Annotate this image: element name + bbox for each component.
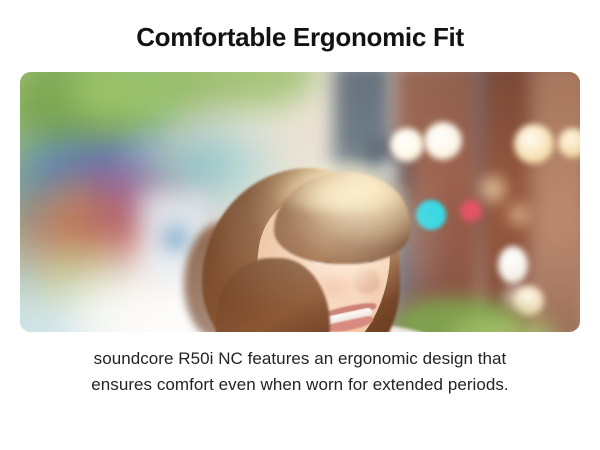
- nose: [354, 268, 380, 294]
- hair-crown-highlight: [266, 160, 412, 212]
- feature-photo: [20, 72, 580, 332]
- caption-line-2: ensures comfort even when worn for exten…: [40, 372, 560, 398]
- caption-line-1: soundcore R50i NC features an ergonomic …: [40, 346, 560, 372]
- feature-caption: soundcore R50i NC features an ergonomic …: [40, 346, 560, 398]
- person-subject: [20, 72, 580, 332]
- page-title: Comfortable Ergonomic Fit: [0, 20, 600, 54]
- product-feature-panel: Comfortable Ergonomic Fit: [0, 0, 600, 450]
- photo-stage: [20, 72, 580, 332]
